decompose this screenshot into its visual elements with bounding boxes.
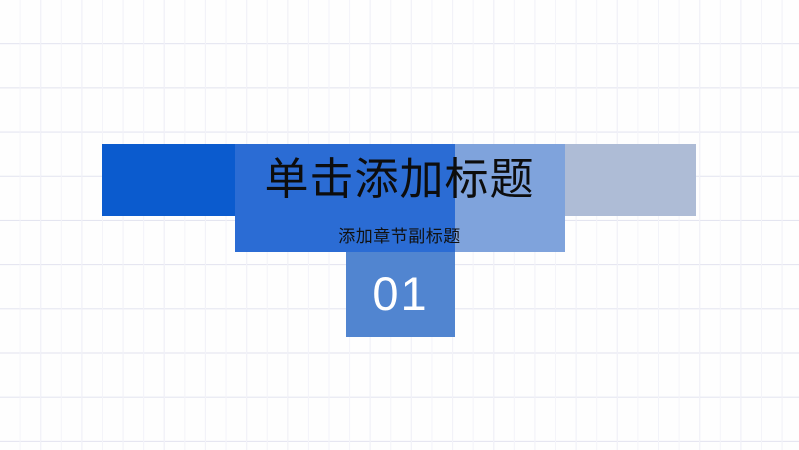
- section-divider-slide: 单击添加标题 添加章节副标题 01: [0, 0, 799, 450]
- section-number-label[interactable]: 01: [346, 262, 455, 326]
- slide-subtitle[interactable]: 添加章节副标题: [0, 226, 799, 248]
- slide-title[interactable]: 单击添加标题: [0, 151, 799, 209]
